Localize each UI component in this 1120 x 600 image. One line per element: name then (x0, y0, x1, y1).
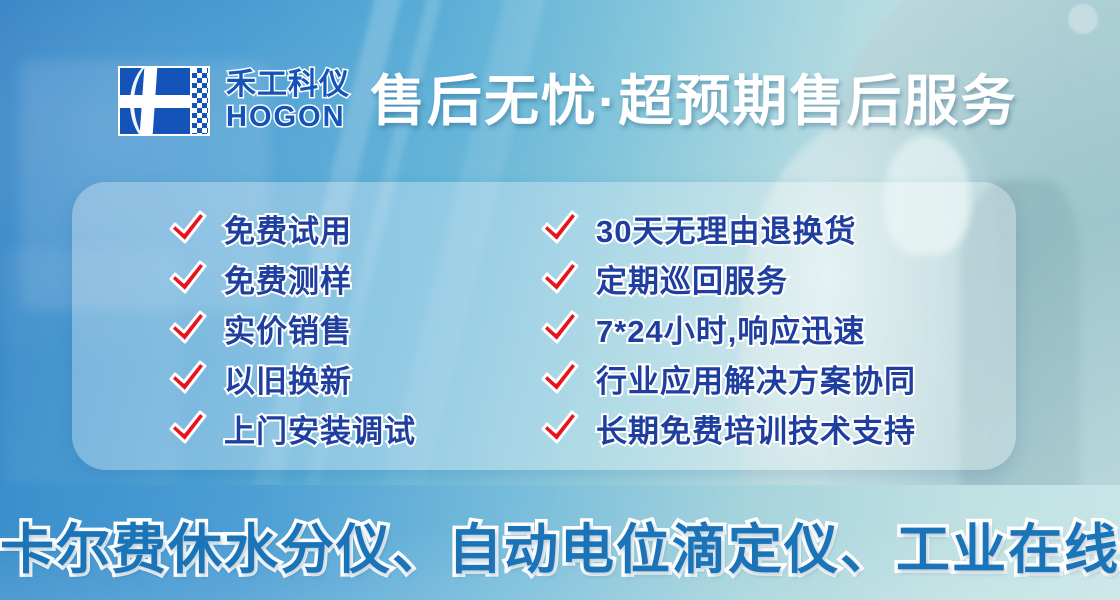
footer-products-text: 卡尔费休水分仪、自动电位滴定仪、工业在线分析仪 (0, 505, 1120, 584)
list-item: 长期免费培训技术支持 (540, 404, 1002, 452)
red-checkmark-icon (168, 210, 208, 246)
red-checkmark-icon (540, 310, 580, 346)
list-item-label: 30天无理由退换货 (596, 206, 856, 251)
list-item-label: 实价销售 (224, 306, 352, 351)
list-item: 定期巡回服务 (540, 254, 1002, 302)
list-item-label: 免费测样 (224, 256, 352, 301)
promo-banner: 禾工科仪 HOGON 售后无忧·超预期售后服务 免费试用 免费测样 (0, 0, 1120, 600)
list-item: 以旧换新 (168, 354, 442, 402)
brand-name-en: HOGON (226, 103, 350, 132)
red-checkmark-icon (168, 410, 208, 446)
list-item: 30天无理由退换货 (540, 204, 1002, 252)
brand-name-cn: 禾工科仪 (226, 70, 350, 100)
list-item-label: 行业应用解决方案协同 (596, 356, 916, 401)
hogon-flag-logo-icon (118, 66, 212, 136)
features-right-column: 30天无理由退换货 定期巡回服务 7*24小时,响应迅速 (442, 204, 1002, 452)
red-checkmark-icon (168, 360, 208, 396)
list-item-label: 7*24小时,响应迅速 (596, 306, 865, 351)
list-item-label: 免费试用 (224, 206, 352, 251)
features-left-column: 免费试用 免费测样 实价销售 (72, 204, 442, 452)
list-item: 实价销售 (168, 304, 442, 352)
red-checkmark-icon (540, 360, 580, 396)
list-item: 免费试用 (168, 204, 442, 252)
logo-checker-strip (190, 66, 210, 136)
red-checkmark-icon (168, 260, 208, 296)
list-item: 上门安装调试 (168, 404, 442, 452)
list-item-label: 以旧换新 (224, 356, 352, 401)
page-title: 售后无忧·超预期售后服务 (370, 74, 1017, 129)
red-checkmark-icon (540, 410, 580, 446)
list-item-label: 长期免费培训技术支持 (596, 406, 916, 451)
features-panel: 免费试用 免费测样 实价销售 (72, 182, 1016, 470)
logo-flag-field (118, 66, 192, 136)
banner-header: 禾工科仪 HOGON 售后无忧·超预期售后服务 (118, 66, 1017, 136)
list-item-label: 定期巡回服务 (596, 256, 788, 301)
list-item: 行业应用解决方案协同 (540, 354, 1002, 402)
list-item: 免费测样 (168, 254, 442, 302)
list-item: 7*24小时,响应迅速 (540, 304, 1002, 352)
list-item-label: 上门安装调试 (224, 406, 416, 451)
brand-wordmark: 禾工科仪 HOGON (226, 70, 350, 132)
red-checkmark-icon (540, 260, 580, 296)
logo-arc (130, 66, 192, 136)
red-checkmark-icon (168, 310, 208, 346)
red-checkmark-icon (540, 210, 580, 246)
